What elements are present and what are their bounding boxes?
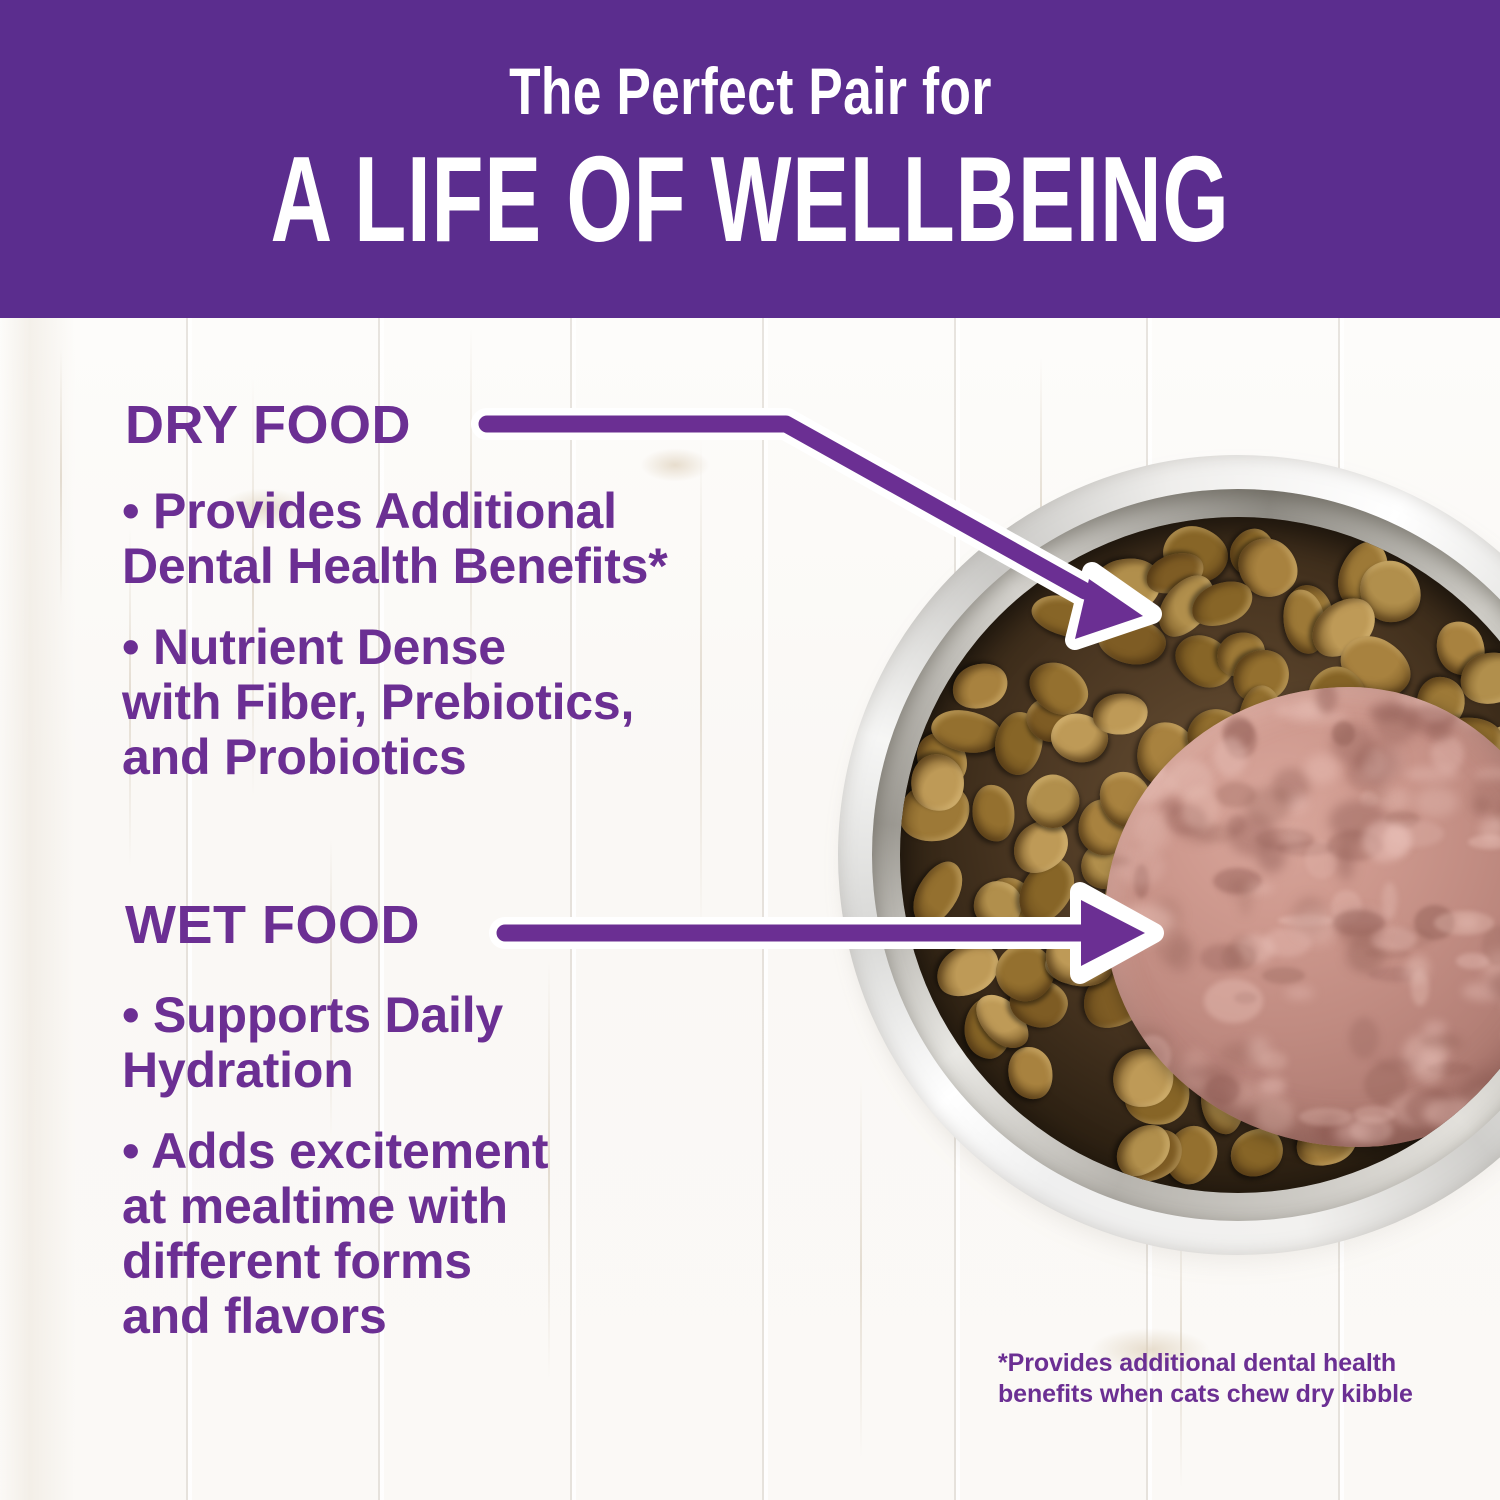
dry-food-connector-arrow xyxy=(487,424,1152,640)
connector-arrows xyxy=(0,0,1500,1500)
infographic-canvas: The Perfect Pair for A LIFE OF WELLBEING… xyxy=(0,0,1500,1500)
wet-food-connector-arrow xyxy=(505,892,1154,974)
